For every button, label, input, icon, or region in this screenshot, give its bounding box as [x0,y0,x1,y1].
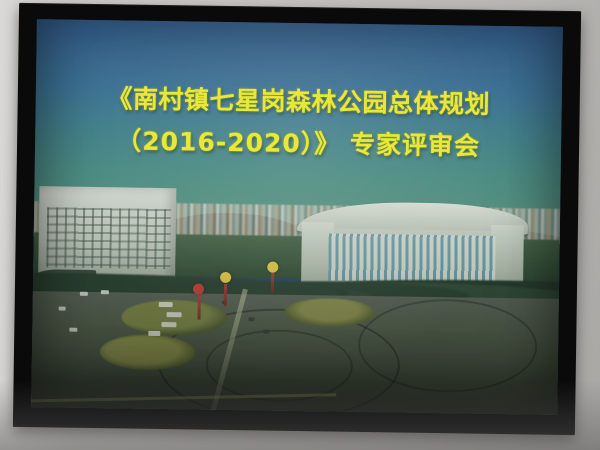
parked-car [80,291,88,295]
coach-bus [161,322,176,327]
projection-screen-surface: 《南村镇七星岗森林公园总体规划 （2016-2020）》 专家评审会 [31,19,563,415]
slide-title: 《南村镇七星岗森林公园总体规划 （2016-2020）》 专家评审会 [35,85,562,161]
parked-car [101,290,109,294]
coach-bus [159,302,173,307]
moving-car [248,317,254,321]
parked-car [69,328,77,332]
coach-bus [167,312,182,317]
slide-title-line-1: 《南村镇七星岗森林公园总体规划 [36,85,562,119]
moving-car [264,329,270,333]
yellow-balloon [220,272,231,283]
coach-bus [148,331,160,336]
presentation-slide: 《南村镇七星岗森林公园总体规划 （2016-2020）》 专家评审会 [31,19,563,415]
parked-car [59,307,66,311]
red-banner [197,295,200,319]
yellow-balloon [267,261,278,272]
red-banner [271,273,274,293]
meeting-room-wall: 《南村镇七星岗森林公园总体规划 （2016-2020）》 专家评审会 [0,0,600,450]
flower-bed [285,298,375,326]
projection-screen-frame: 《南村镇七星岗森林公园总体规划 （2016-2020）》 专家评审会 [13,3,581,435]
red-banner [224,284,227,306]
